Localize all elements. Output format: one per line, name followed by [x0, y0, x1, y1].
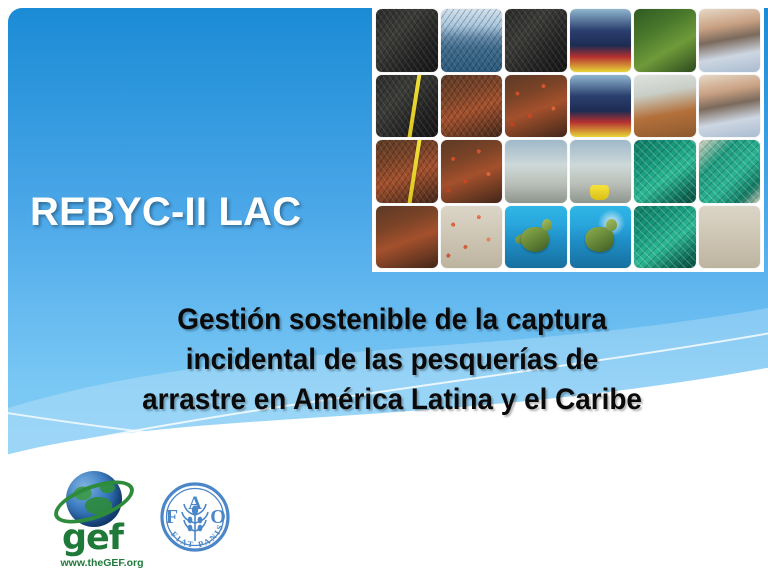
gef-url[interactable]: www.theGEF.org	[48, 557, 156, 569]
collage-photo-r2c5	[634, 75, 696, 138]
gef-logo[interactable]: gef www.theGEF.org	[48, 471, 152, 567]
collage-photo-r2c6	[699, 75, 761, 138]
green-net-mesh	[634, 140, 696, 203]
catch-specks	[505, 75, 567, 138]
collage-photo-r2c3	[505, 75, 567, 138]
net-texture	[376, 140, 438, 203]
subtitle-line-1: Gestión sostenible de la captura	[35, 300, 749, 340]
collage-photo-r3c5	[634, 140, 696, 203]
catch-specks	[441, 206, 503, 269]
collage-photo-r1c2	[441, 9, 503, 72]
collage-photo-r1c1	[376, 9, 438, 72]
rubber-boot	[590, 185, 608, 200]
net-texture	[376, 9, 438, 72]
svg-text:F: F	[166, 506, 178, 528]
turtle-head	[606, 219, 616, 231]
project-title: REBYC-II LAC	[30, 190, 301, 235]
collage-photo-r1c3	[505, 9, 567, 72]
collage-photo-r4c4	[570, 206, 632, 269]
catch-specks	[441, 140, 503, 203]
collage-photo-r4c5	[634, 206, 696, 269]
collage-photo-r3c1	[376, 140, 438, 203]
collage-photo-r3c6	[699, 140, 761, 203]
collage-photo-r2c4	[570, 75, 632, 138]
collage-photo-r3c2	[441, 140, 503, 203]
subtitle-line-2: incidental de las pesquerías de	[35, 340, 749, 380]
collage-photo-r3c3	[505, 140, 567, 203]
collage-photo-r4c1	[376, 206, 438, 269]
poster-subtitle: Gestión sostenible de la captura inciden…	[35, 300, 749, 421]
turtle-head	[542, 219, 552, 231]
net-texture	[505, 9, 567, 72]
collage-photo-r1c6	[699, 9, 761, 72]
collage-photo-r4c3	[505, 206, 567, 269]
net-texture	[441, 75, 503, 138]
collage-grid	[376, 9, 760, 268]
collage-photo-r2c1	[376, 75, 438, 138]
green-net-mesh	[634, 206, 696, 269]
net-texture	[376, 75, 438, 138]
fao-emblem-icon: F A O	[152, 479, 238, 557]
collage-photo-r1c5	[634, 9, 696, 72]
net-texture	[441, 9, 503, 72]
poster-root: REBYC-II LAC Gestión sostenible de la ca…	[0, 0, 768, 573]
collage-photo-r4c2	[441, 206, 503, 269]
green-net-mesh	[699, 140, 761, 203]
collage-photo-r2c2	[441, 75, 503, 138]
collage-photo-r3c4	[570, 140, 632, 203]
fao-logo[interactable]: F A O	[152, 479, 238, 557]
collage-photo-r4c6	[699, 206, 761, 269]
photo-collage	[372, 4, 764, 272]
logo-row: gef www.theGEF.org F A O	[0, 465, 768, 573]
gef-wordmark: gef	[62, 521, 123, 556]
collage-photo-r1c4	[570, 9, 632, 72]
subtitle-line-3: arrastre en América Latina y el Caribe	[35, 380, 749, 420]
